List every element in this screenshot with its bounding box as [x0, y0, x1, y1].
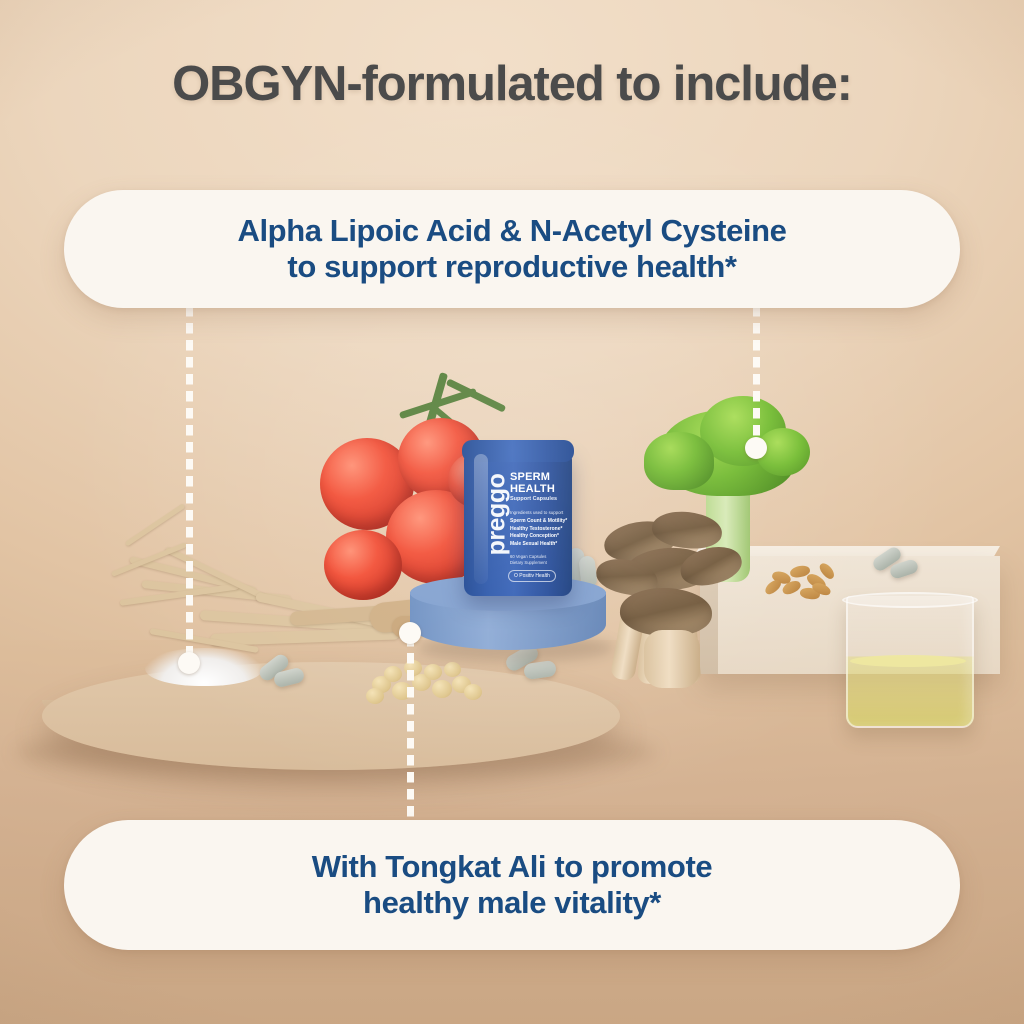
connector-line-right — [753, 306, 760, 452]
page-title: OBGYN-formulated to include: — [0, 56, 1024, 112]
connector-line-left — [186, 306, 193, 666]
connector-dot-right — [745, 437, 767, 459]
callout-text-tongkat-ali: With Tongkat Ali to promote healthy male… — [312, 849, 712, 922]
callout-text-alpha-lipoic: Alpha Lipoic Acid & N-Acetyl Cysteine to… — [237, 213, 786, 286]
connector-dot-left — [178, 652, 200, 674]
connector-line-bottom — [407, 636, 414, 822]
callout-card-alpha-lipoic: Alpha Lipoic Acid & N-Acetyl Cysteine to… — [64, 190, 960, 308]
connector-dot-bottom — [399, 622, 421, 644]
product-marketing-image: preggo SPERM HEALTH Support Capsules Ing… — [0, 0, 1024, 1024]
callout-card-tongkat-ali: With Tongkat Ali to promote healthy male… — [64, 820, 960, 950]
